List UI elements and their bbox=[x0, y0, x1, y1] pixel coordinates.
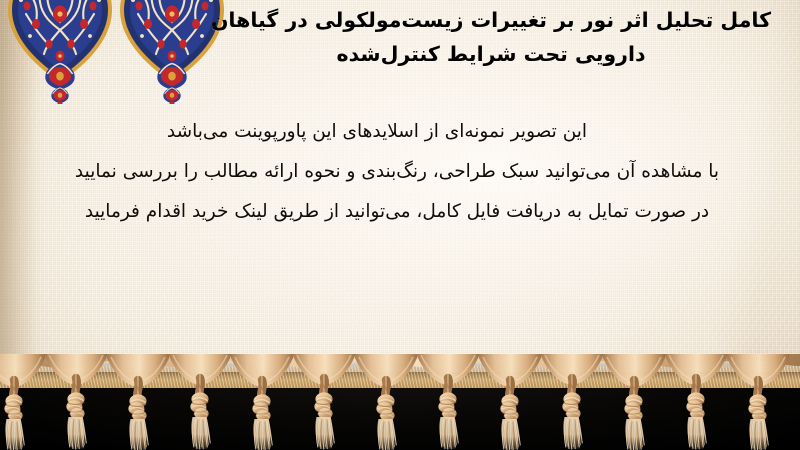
slide-title: کامل تحلیل اثر نور بر تغییرات زیست‌مولکو… bbox=[196, 3, 786, 71]
tassel bbox=[417, 354, 479, 449]
tassel bbox=[665, 354, 727, 449]
tassel bbox=[0, 354, 45, 450]
tassel-row bbox=[0, 354, 789, 450]
tassel-fringe bbox=[0, 354, 800, 450]
tassel bbox=[45, 354, 107, 449]
slide-canvas: کامل تحلیل اثر نور بر تغییرات زیست‌مولکو… bbox=[0, 0, 800, 450]
tassel bbox=[293, 354, 355, 449]
tassel bbox=[541, 354, 603, 449]
tassel bbox=[231, 354, 293, 450]
slide-title-line-1: کامل تحلیل اثر نور بر تغییرات زیست‌مولکو… bbox=[196, 3, 786, 37]
tassel bbox=[107, 354, 169, 450]
pendant-left-shape bbox=[45, 64, 74, 105]
tassel bbox=[727, 354, 789, 450]
slide-body-line-1: این تصویر نمونه‌ای از اسلایدهای این پاور… bbox=[16, 112, 778, 152]
pendant-right-shape bbox=[157, 64, 186, 105]
tassel bbox=[169, 354, 231, 449]
slide-body-line-2: با مشاهده آن می‌توانید سبک طراحی، رنگ‌بن… bbox=[16, 152, 778, 192]
slide-title-line-2: دارویی تحت شرایط کنترل‌شده bbox=[196, 37, 786, 71]
slide-body-text: این تصویر نمونه‌ای از اسلایدهای این پاور… bbox=[16, 112, 778, 232]
tassel bbox=[479, 354, 541, 450]
tassel bbox=[603, 354, 665, 450]
slide-body-line-3: در صورت تمایل به دریافت فایل کامل، می‌تو… bbox=[16, 192, 778, 232]
tassel bbox=[355, 354, 417, 450]
